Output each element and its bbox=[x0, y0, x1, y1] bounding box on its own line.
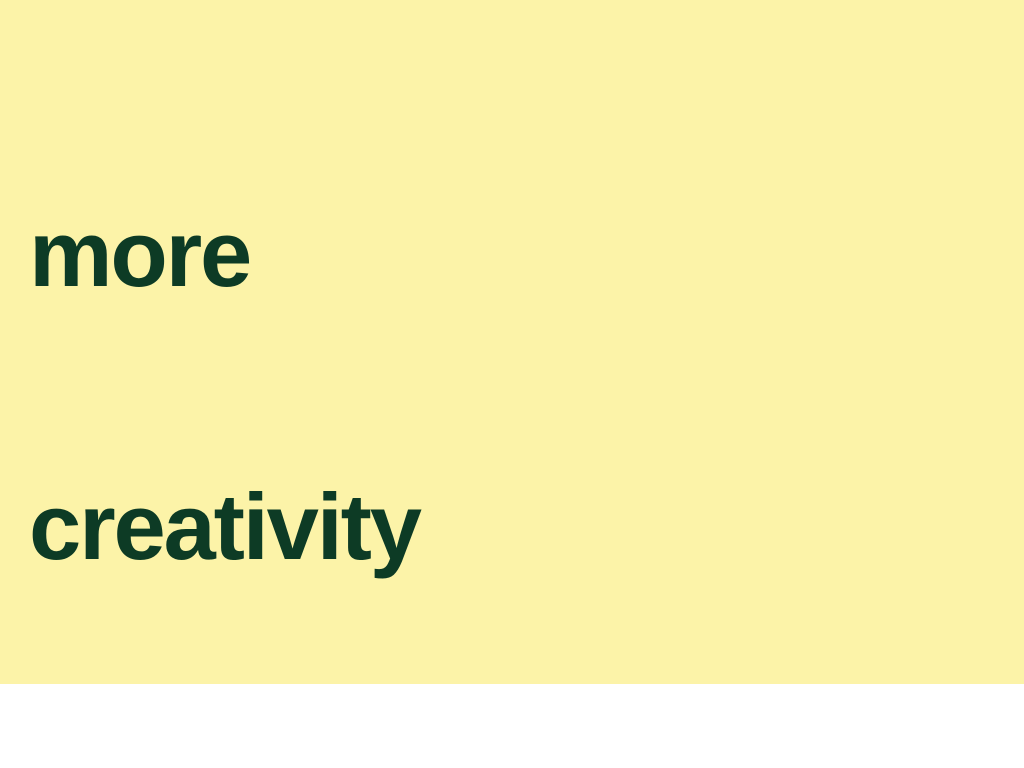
page-title-line-1: more bbox=[29, 208, 420, 299]
page-title: more creativity bbox=[29, 26, 420, 754]
hero-section: more creativity bbox=[0, 0, 1024, 684]
page-title-line-2: creativity bbox=[29, 481, 420, 572]
site-footer: farma&more aanpak diensten team contact bbox=[0, 684, 1024, 768]
page-root: more creativity farma&more aanpak dienst… bbox=[0, 0, 1024, 768]
